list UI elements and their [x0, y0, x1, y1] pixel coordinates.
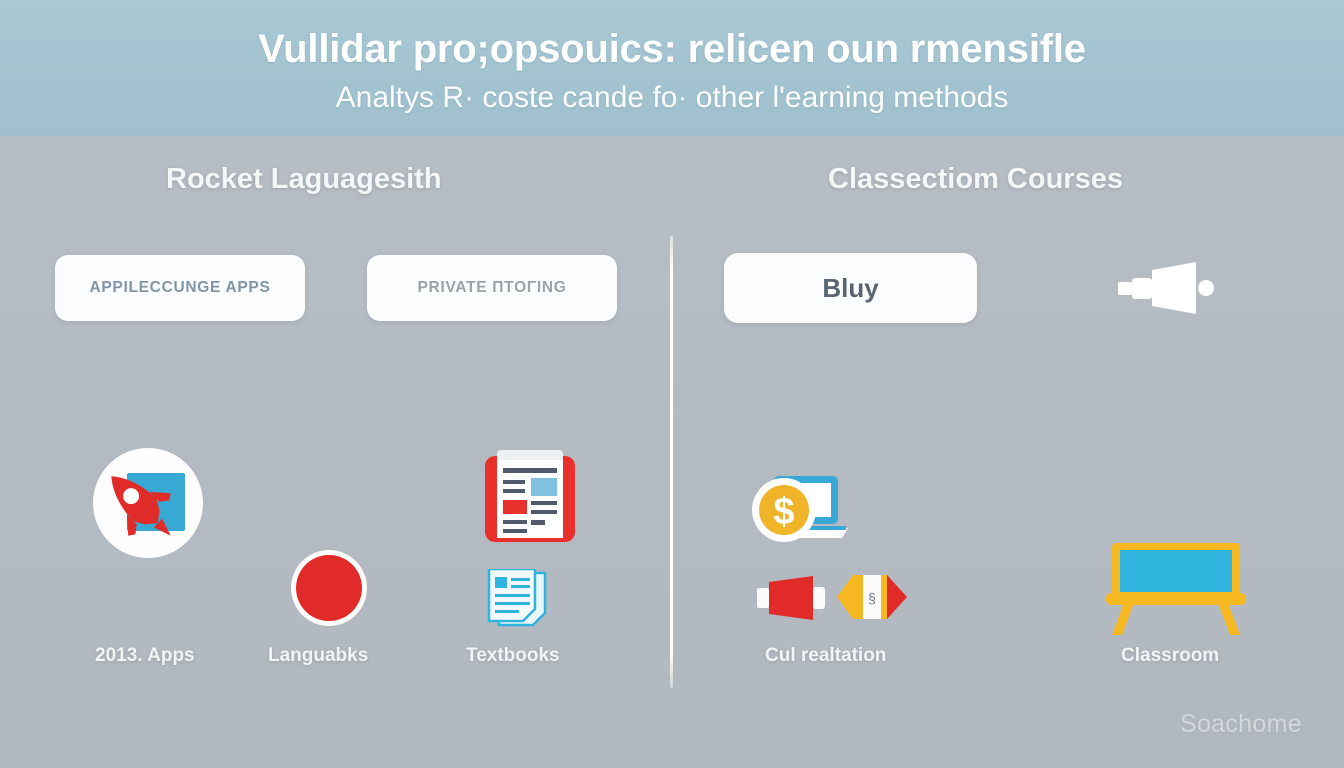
pill-appilleccunge-apps[interactable]: APPILECCUNGE APPS	[55, 255, 305, 321]
right-column-heading: Classectiom Courses	[828, 163, 1123, 196]
whiteboard-icon	[1106, 543, 1246, 635]
column-divider	[670, 236, 673, 688]
rocket-icon	[95, 460, 187, 552]
pill-buy-label: Bluy	[822, 273, 878, 304]
svg-text:§: §	[868, 590, 876, 606]
documents-icon	[487, 569, 549, 627]
label-textbooks: Textbooks	[466, 645, 560, 667]
pill-tutoring-label: PRIVATE ΠTOΓING	[418, 279, 567, 297]
label-consultation: Cul realtation	[765, 645, 886, 667]
infographic-canvas: Vullidar pro;opsouics: relicen oun rmens…	[0, 0, 1344, 768]
lifering-icon	[294, 553, 364, 623]
left-column-heading: Rocket Laguagesith	[166, 163, 442, 196]
label-languages: Languabks	[268, 645, 368, 667]
label-classroom: Classroom	[1121, 645, 1219, 667]
svg-text:$: $	[773, 491, 794, 533]
label-apps: 2013. Apps	[95, 645, 195, 667]
newspaper-icon	[483, 450, 577, 546]
pill-private-tutoring[interactable]: PRIVATE ΠTOΓING	[367, 255, 617, 321]
header-band: Vullidar pro;opsouics: relicen oun rmens…	[0, 0, 1344, 136]
page-title: Vullidar pro;opsouics: relicen oun rmens…	[258, 28, 1086, 70]
pill-buy[interactable]: Bluy	[724, 253, 977, 323]
pill-apps-label: APPILECCUNGE APPS	[90, 279, 271, 297]
page-subtitle: Analtys R· coste cande fo· other l'earni…	[336, 82, 1009, 114]
watermark: Soachome	[1180, 710, 1302, 739]
megaphone-small-icon	[757, 576, 831, 620]
pencil-icon: §	[837, 571, 907, 623]
megaphone-icon	[1118, 262, 1214, 314]
dollar-coin-icon: $	[753, 479, 815, 541]
